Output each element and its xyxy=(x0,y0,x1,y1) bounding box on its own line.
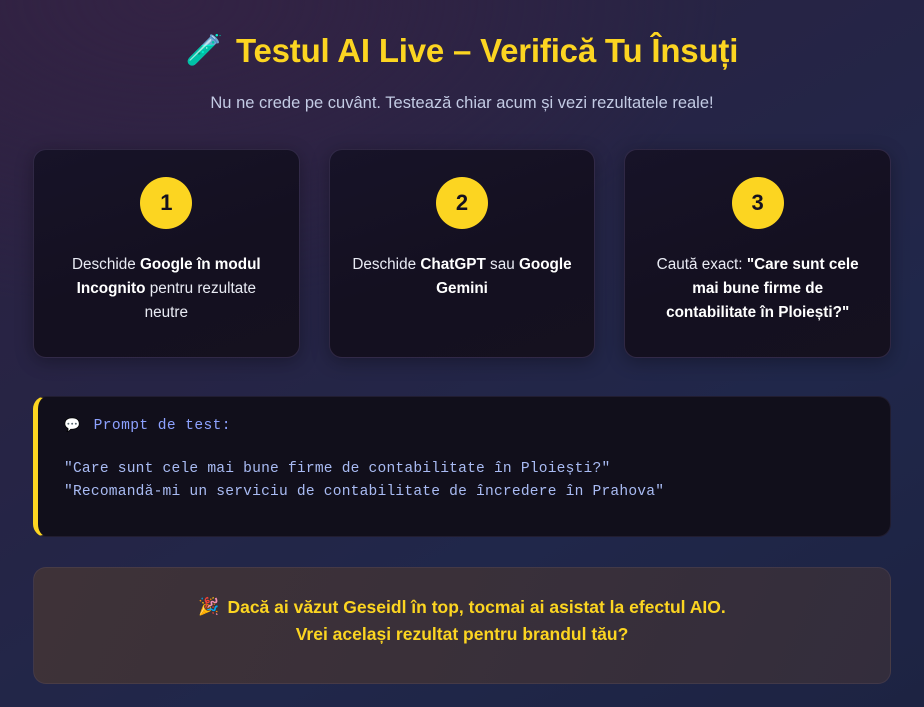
step-number-badge-3: 3 xyxy=(732,177,784,229)
step-card-3: 3 Caută exact: "Care sunt cele mai bune … xyxy=(624,149,891,358)
live-ai-test-section: 🧪 Testul AI Live – Verifică Tu Însuți Nu… xyxy=(0,31,924,707)
test-tube-emoji: 🧪 xyxy=(186,36,223,66)
prompt-box-header: 💬 Prompt de test: xyxy=(64,418,864,434)
step-text-middle-2: sau xyxy=(486,256,519,273)
prompt-line-1[interactable]: "Care sunt cele mai bune firme de contab… xyxy=(64,458,864,481)
step-text-before-1: Deschide xyxy=(72,256,140,273)
step-text-after-1: pentru rezultate neutre xyxy=(145,280,256,321)
page-subtitle: Nu ne crede pe cuvânt. Testează chiar ac… xyxy=(33,92,891,114)
step-number-badge-2: 2 xyxy=(436,177,488,229)
cta-line-1: 🎉 Dacă ai văzut Geseidl în top, tocmai a… xyxy=(198,595,725,620)
step-text-before-2: Deschide xyxy=(352,256,420,273)
prompt-line-2[interactable]: "Recomandă-mi un serviciu de contabilita… xyxy=(64,481,864,504)
cta-banner: 🎉 Dacă ai văzut Geseidl în top, tocmai a… xyxy=(33,567,891,684)
step-card-text-1: Deschide Google în modul Incognito pentr… xyxy=(56,253,276,325)
cta-line-1-text: Dacă ai văzut Geseidl în top, tocmai ai … xyxy=(227,595,725,620)
step-card-1: 1 Deschide Google în modul Incognito pen… xyxy=(33,149,300,358)
step-card-2: 2 Deschide ChatGPT sau Google Gemini xyxy=(329,149,596,358)
speech-balloon-icon: 💬 xyxy=(64,419,81,432)
step-text-bold-2: ChatGPT xyxy=(420,256,485,273)
step-card-text-3: Caută exact: "Care sunt cele mai bune fi… xyxy=(648,253,868,325)
page-title: 🧪 Testul AI Live – Verifică Tu Însuți xyxy=(33,31,891,71)
prompt-lines: "Care sunt cele mai bune firme de contab… xyxy=(64,458,864,504)
step-text-before-3: Caută exact: xyxy=(657,256,747,273)
page-title-text: Testul AI Live – Verifică Tu Însuți xyxy=(236,31,738,71)
steps-card-list: 1 Deschide Google în modul Incognito pen… xyxy=(33,149,891,358)
test-prompt-box: 💬 Prompt de test: "Care sunt cele mai bu… xyxy=(33,396,891,537)
prompt-box-label: Prompt de test: xyxy=(94,418,231,434)
step-card-text-2: Deschide ChatGPT sau Google Gemini xyxy=(352,253,572,301)
party-popper-emoji: 🎉 xyxy=(198,598,219,615)
step-number-badge-1: 1 xyxy=(140,177,192,229)
cta-line-2: Vrei același rezultat pentru brandul tău… xyxy=(296,622,629,647)
